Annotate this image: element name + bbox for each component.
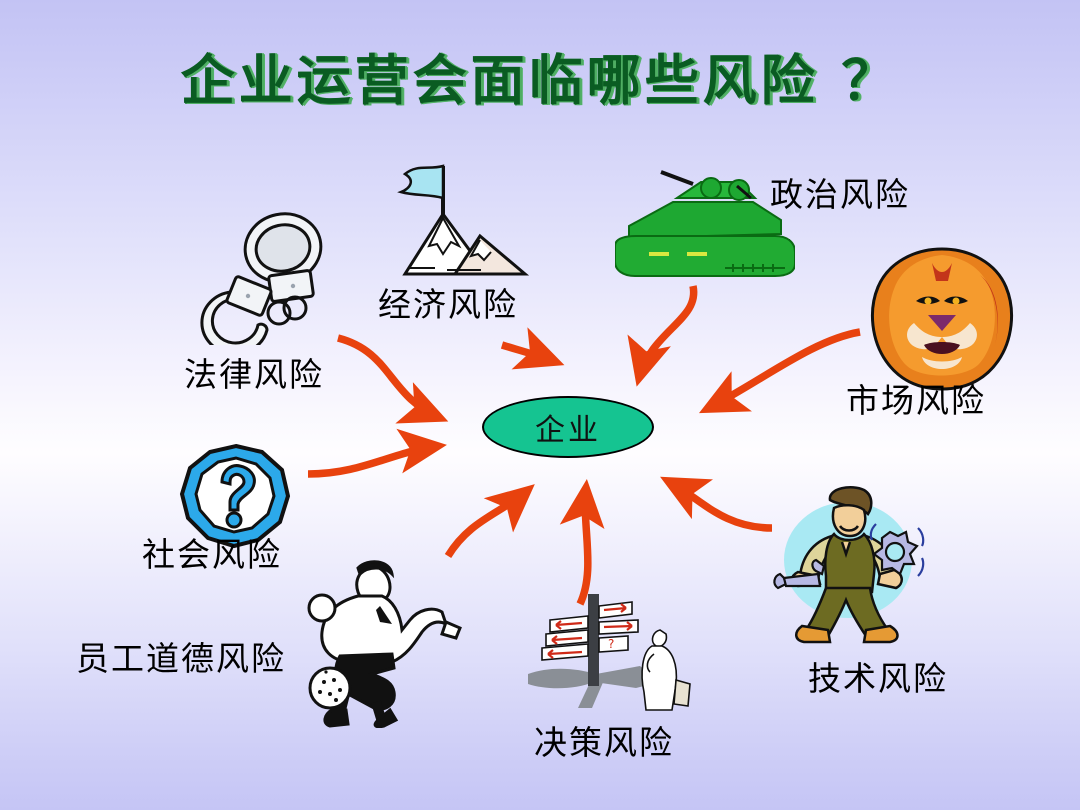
page-title: 企业运营会面临哪些风险 ？: [0, 36, 1080, 115]
arrow-legal-to-center: [338, 338, 440, 418]
arrow-technical-to-center: [668, 481, 772, 528]
center-node-enterprise[interactable]: 企业: [482, 396, 654, 458]
arrow-ethics-to-center: [448, 490, 528, 556]
mountain-flag-icon: [385, 150, 535, 285]
node-label-political[interactable]: 政治风险: [770, 178, 910, 211]
arrow-social-to-center: [308, 446, 438, 474]
node-label-decision[interactable]: 决策风险: [534, 726, 674, 759]
arrow-decision-to-center: [580, 488, 588, 604]
node-label-market[interactable]: 市场风险: [846, 384, 986, 417]
node-label-technical[interactable]: 技术风险: [808, 662, 948, 695]
center-node-label: 企业: [535, 405, 601, 449]
node-label-social[interactable]: 社会风险: [142, 538, 282, 571]
node-label-economic[interactable]: 经济风险: [378, 288, 518, 321]
signpost-icon: ?: [520, 588, 695, 713]
tank-icon: [615, 168, 795, 283]
arrow-economic-to-center: [502, 345, 556, 362]
mechanic-gear-icon: [772, 484, 930, 644]
question-mark-icon: [176, 442, 296, 550]
arrow-political-to-center: [639, 286, 694, 378]
node-label-legal[interactable]: 法律风险: [184, 358, 324, 391]
soccer-player-icon: [296, 552, 466, 728]
lion-head-icon: [862, 245, 1022, 393]
handcuffs-icon: [175, 200, 335, 345]
slide-canvas: 企业运营会面临哪些风险 ？ 企业: [0, 0, 1080, 810]
arrow-market-to-center: [707, 332, 860, 409]
node-label-ethics[interactable]: 员工道德风险: [76, 642, 286, 675]
svg-text:?: ?: [608, 637, 614, 651]
